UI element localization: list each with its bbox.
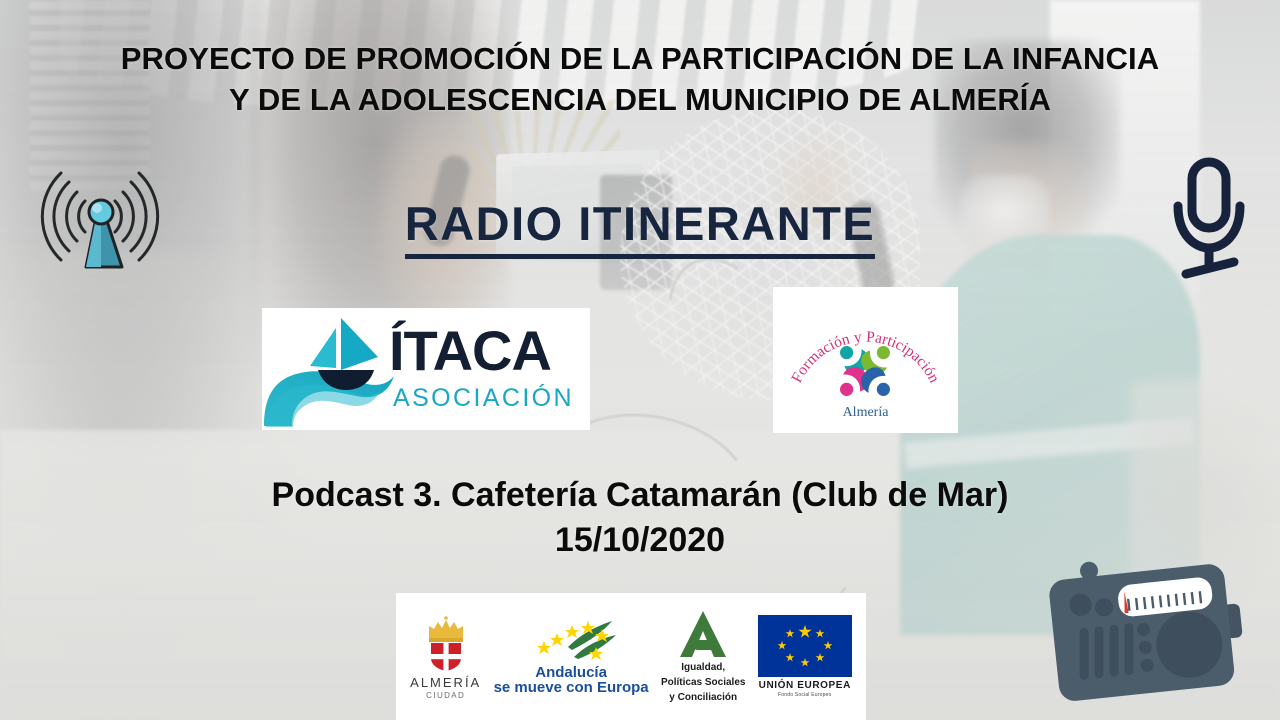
episode-title: Podcast 3. Cafetería Catamarán (Club de … xyxy=(0,472,1280,518)
sailboat-on-hand-icon: ÍTACA ASOCIACIÓN xyxy=(262,308,590,430)
svg-text:ASOCIACIÓN: ASOCIACIÓN xyxy=(393,383,574,412)
main-title-container: RADIO ITINERANTE xyxy=(0,196,1280,259)
andalucia-line-2: se mueve con Europa xyxy=(494,680,649,696)
junta-line-2: Políticas Sociales xyxy=(661,677,746,689)
footer-logo-junta-igualdad: Igualdad, Políticas Sociales y Conciliac… xyxy=(661,609,746,704)
main-title: RADIO ITINERANTE xyxy=(405,196,876,259)
presentation-slide: PROYECTO DE PROMOCIÓN DE LA PARTICIPACIÓ… xyxy=(0,0,1280,720)
junta-line-1: Igualdad, xyxy=(681,662,725,674)
footer-logo-almeria-ciudad: ALMERÍA CIUDAD xyxy=(410,614,481,700)
andalucia-line-1: Andalucía xyxy=(535,665,607,680)
almeria-coat-of-arms-icon xyxy=(419,614,473,672)
formacion-city-label: Almería xyxy=(773,405,958,421)
andalucia-stars-swoosh-icon xyxy=(522,617,620,663)
svg-text:ÍTACA: ÍTACA xyxy=(389,319,551,382)
microphone-icon xyxy=(1168,152,1260,284)
eu-subtitle: Fondo Social Europeo xyxy=(778,692,831,698)
formacion-participacion-logo-panel: Formación y Participación xyxy=(773,287,958,433)
almeria-title: ALMERÍA xyxy=(410,675,481,690)
slide-headline: PROYECTO DE PROMOCIÓN DE LA PARTICIPACIÓ… xyxy=(0,38,1280,120)
itaca-logo-panel: ÍTACA ASOCIACIÓN ÍTACA ASOCIACIÓN xyxy=(262,308,590,430)
eu-title: UNIÓN EUROPEA xyxy=(759,680,851,691)
radio-receiver-icon xyxy=(1048,552,1266,717)
junta-line-3: y Conciliación xyxy=(669,692,737,704)
almeria-subtitle: CIUDAD xyxy=(426,691,465,700)
eu-flag-icon xyxy=(758,615,852,677)
footer-logo-andalucia-europa: Andalucía se mueve con Europa xyxy=(494,617,649,696)
footer-logo-strip: ALMERÍA CIUDAD Andalucía se muev xyxy=(396,593,866,720)
radio-broadcast-tower-icon xyxy=(38,146,166,276)
footer-logo-union-europea: UNIÓN EUROPEA Fondo Social Europeo xyxy=(758,615,852,698)
junta-andalucia-a-icon xyxy=(674,609,732,659)
